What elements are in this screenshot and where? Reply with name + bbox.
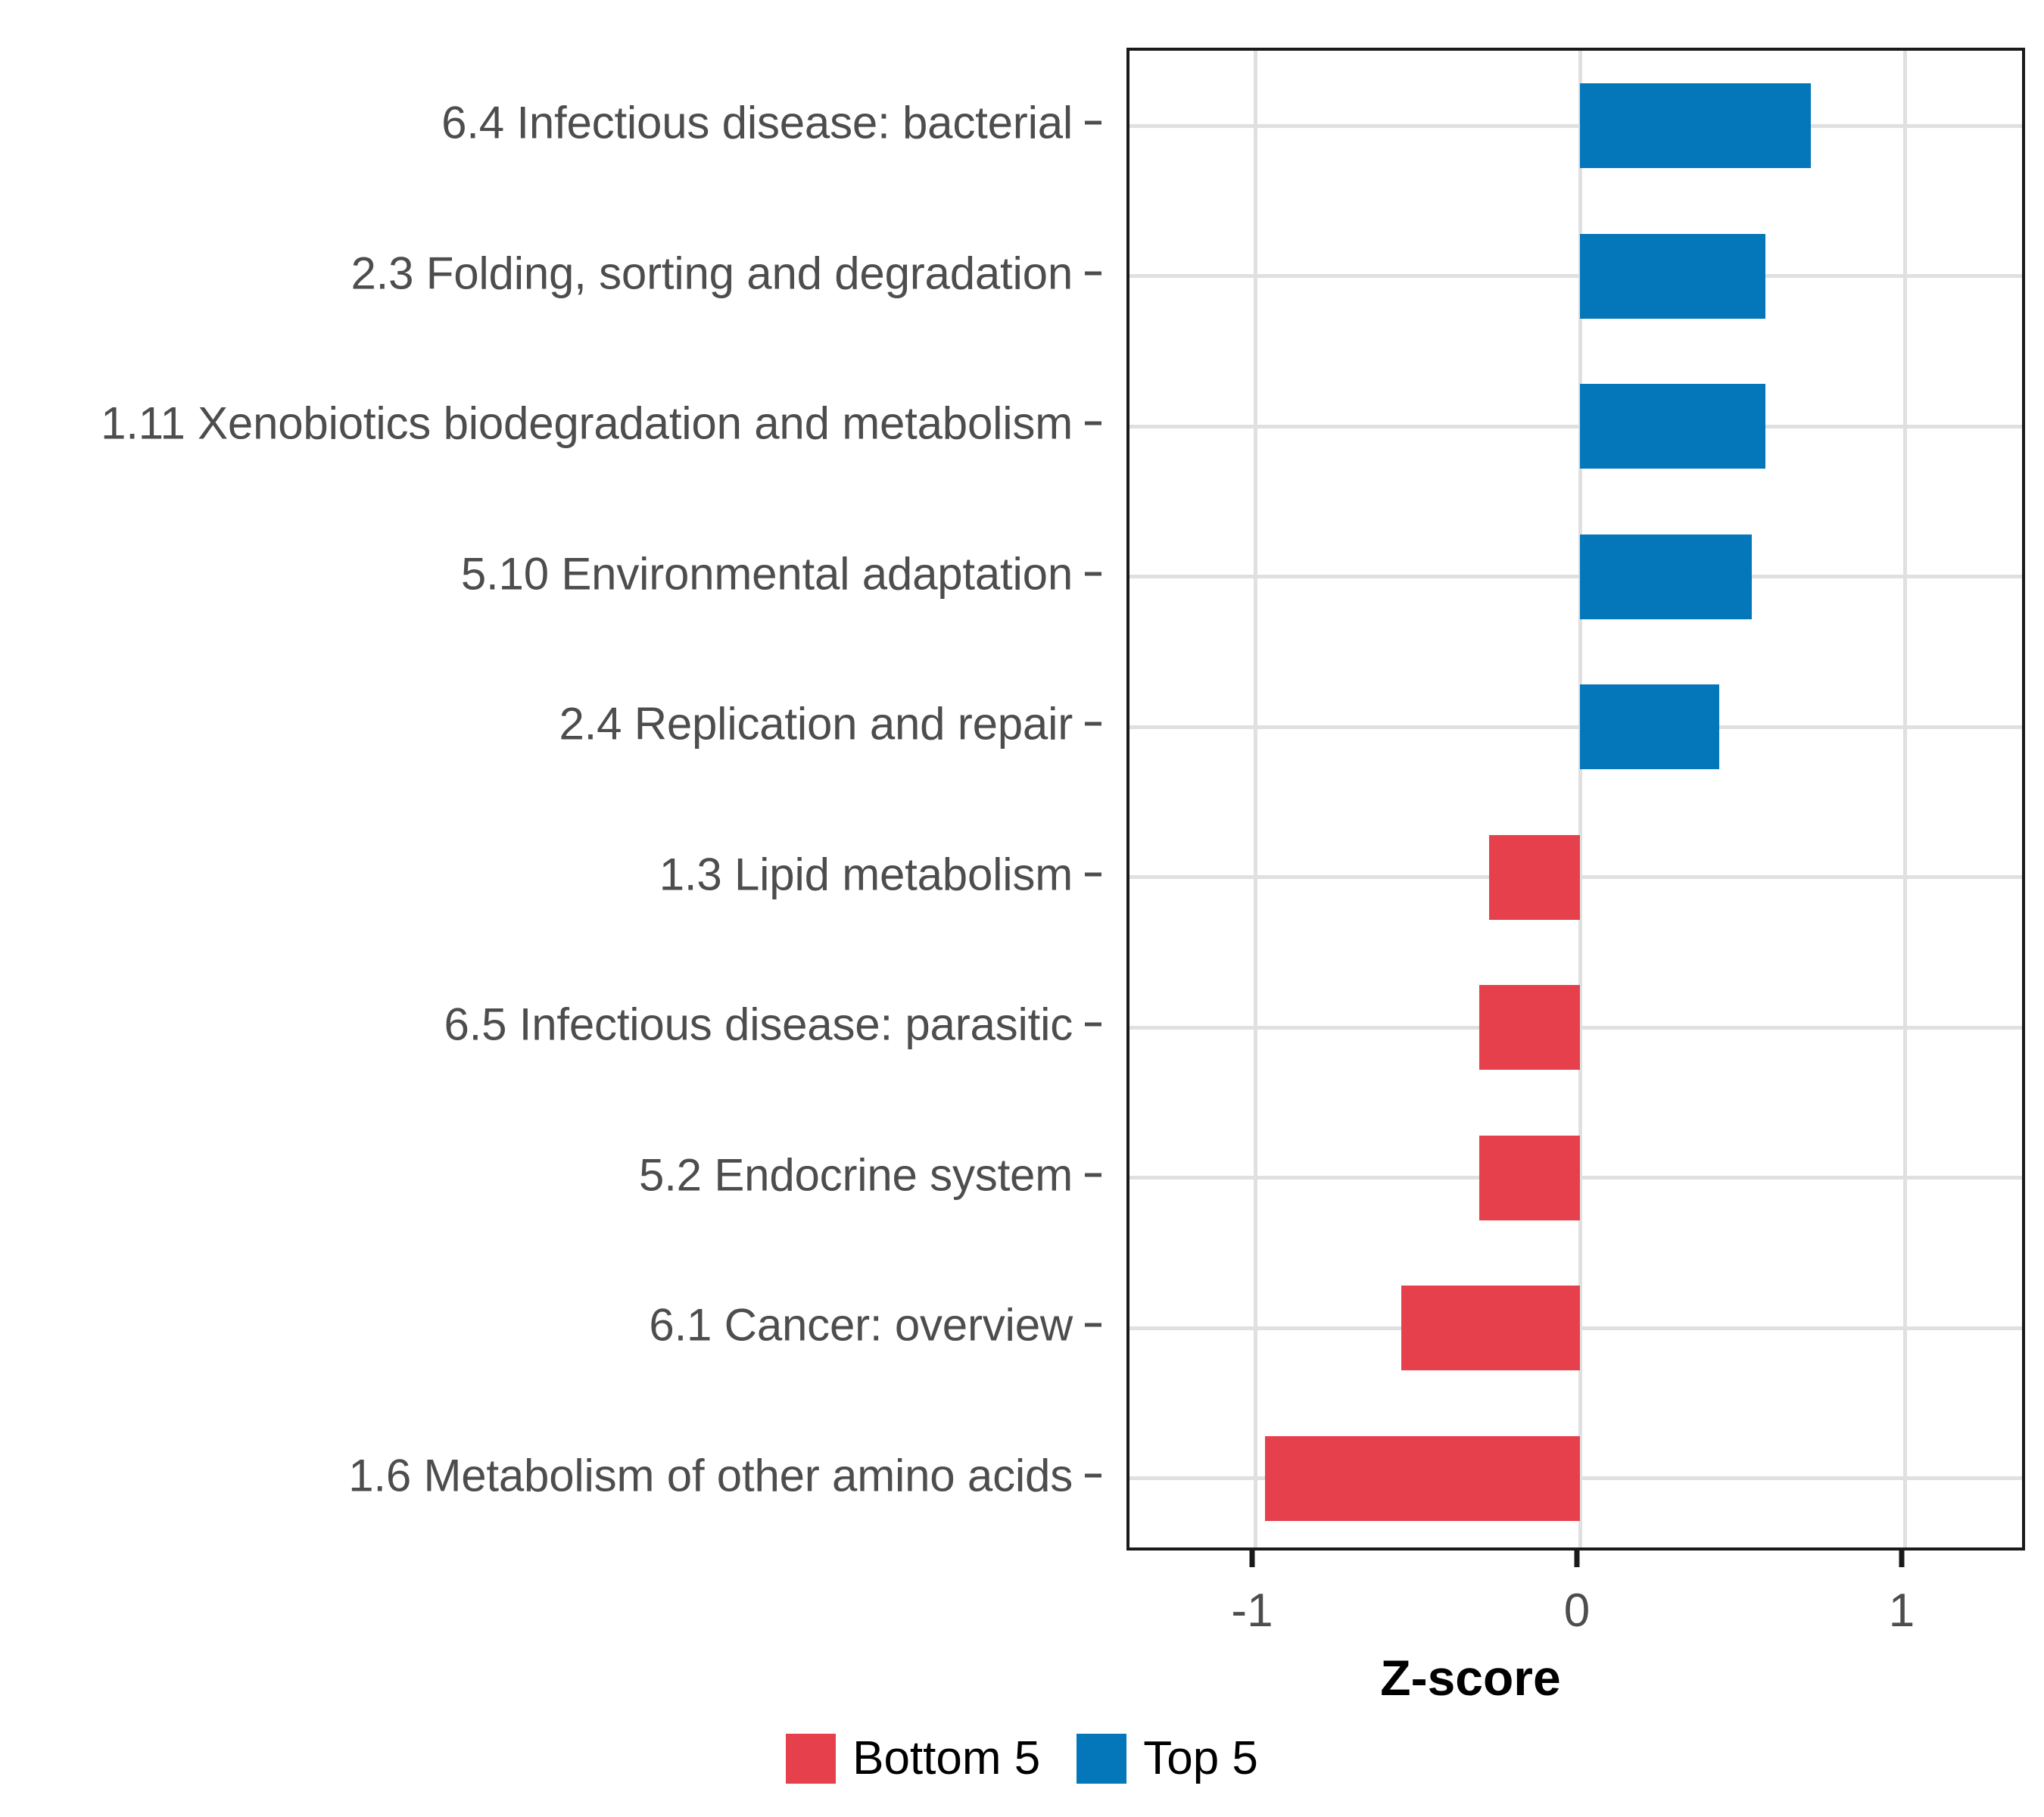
bar-bottom[interactable] xyxy=(1489,835,1580,920)
x-axis-title: Z-score xyxy=(0,1649,2044,1706)
plot-panel xyxy=(1126,48,2025,1551)
y-axis-tick-mark xyxy=(1085,572,1101,575)
bar-top[interactable] xyxy=(1580,234,1765,319)
x-axis-tick-label: -1 xyxy=(1231,1584,1273,1638)
y-axis-tick-mark xyxy=(1085,1473,1101,1477)
y-axis-tick-label: 1.11 Xenobiotics biodegradation and meta… xyxy=(101,397,1073,450)
legend-label-bottom5: Bottom 5 xyxy=(852,1735,1040,1782)
y-axis-tick-mark xyxy=(1085,1323,1101,1327)
chart-legend: Bottom 5 Top 5 xyxy=(0,1734,2044,1784)
y-axis-tick-label: 5.10 Environmental adaptation xyxy=(461,547,1073,600)
legend-label-top5: Top 5 xyxy=(1143,1735,1258,1782)
bar-bottom[interactable] xyxy=(1401,1286,1580,1370)
legend-swatch-top5 xyxy=(1077,1734,1126,1784)
y-axis-tick-label: 5.2 Endocrine system xyxy=(639,1148,1073,1201)
gridline-horizontal xyxy=(1129,425,2022,429)
y-axis-tick-mark xyxy=(1085,872,1101,876)
gridline-horizontal xyxy=(1129,575,2022,578)
bar-top[interactable] xyxy=(1580,535,1752,619)
gridline-horizontal xyxy=(1129,274,2022,278)
legend-swatch-bottom5 xyxy=(786,1734,836,1784)
y-axis-tick-label: 1.3 Lipid metabolism xyxy=(659,848,1073,900)
bar-top[interactable] xyxy=(1580,684,1719,769)
y-axis-tick-label: 6.4 Infectious disease: bacterial xyxy=(441,97,1073,149)
y-axis-tick-mark xyxy=(1085,722,1101,726)
gridline-horizontal xyxy=(1129,124,2022,128)
x-axis-tick-mark xyxy=(1899,1551,1905,1567)
x-axis-tick-mark xyxy=(1250,1551,1255,1567)
bar-top[interactable] xyxy=(1580,384,1765,469)
y-axis-tick-label: 2.3 Folding, sorting and degradation xyxy=(351,247,1073,299)
y-axis-tick-mark xyxy=(1085,1023,1101,1027)
chart-figure: 6.4 Infectious disease: bacterial2.3 Fol… xyxy=(0,0,2044,1817)
bar-top[interactable] xyxy=(1580,83,1811,168)
bar-bottom[interactable] xyxy=(1479,985,1580,1070)
y-axis-tick-label: 6.1 Cancer: overview xyxy=(649,1299,1073,1351)
x-axis-tick-label: 1 xyxy=(1889,1584,1915,1638)
gridline-horizontal xyxy=(1129,725,2022,729)
legend-item-bottom5[interactable]: Bottom 5 xyxy=(786,1734,1040,1784)
y-axis-labels: 6.4 Infectious disease: bacterial2.3 Fol… xyxy=(0,48,1101,1551)
y-axis-tick-mark xyxy=(1085,1173,1101,1177)
x-axis-title-text: Z-score xyxy=(1380,1649,1560,1706)
y-axis-tick-mark xyxy=(1085,271,1101,275)
y-axis-tick-mark xyxy=(1085,422,1101,425)
bar-bottom[interactable] xyxy=(1265,1436,1580,1521)
x-axis-tick-label: 0 xyxy=(1564,1584,1590,1638)
legend-item-top5[interactable]: Top 5 xyxy=(1077,1734,1258,1784)
y-axis-tick-label: 6.5 Infectious disease: parasitic xyxy=(444,999,1073,1051)
x-axis-tick-mark xyxy=(1575,1551,1580,1567)
bar-bottom[interactable] xyxy=(1479,1136,1580,1220)
y-axis-tick-mark xyxy=(1085,121,1101,125)
y-axis-tick-label: 1.6 Metabolism of other amino acids xyxy=(348,1449,1073,1501)
y-axis-tick-label: 2.4 Replication and repair xyxy=(559,698,1073,750)
